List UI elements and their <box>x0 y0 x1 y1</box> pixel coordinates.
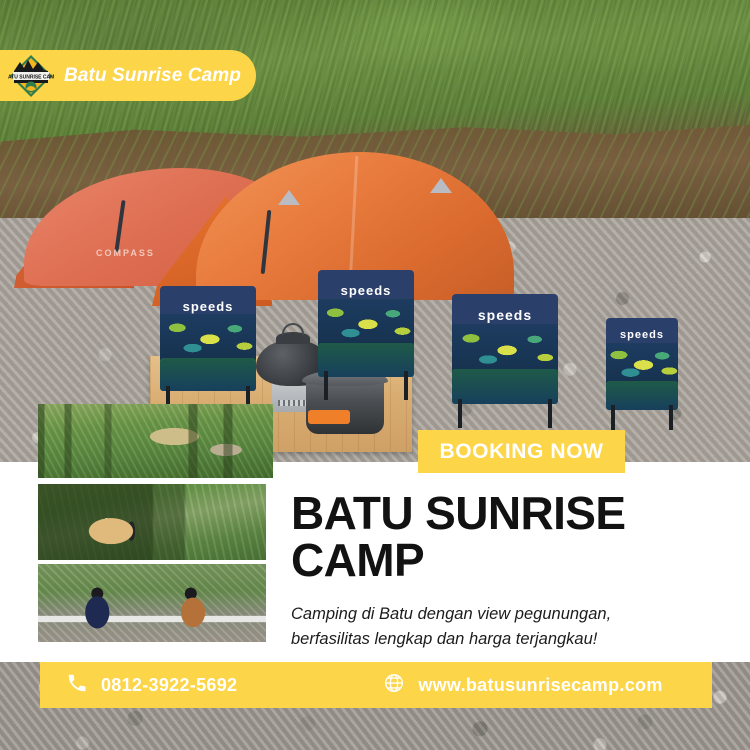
chair-leg <box>669 405 673 430</box>
chair-leg <box>548 399 552 428</box>
website-url: www.batusunrisecamp.com <box>418 675 662 696</box>
chair-backrest <box>160 286 256 360</box>
chair-brand-label: speeds <box>606 329 678 341</box>
globe-icon <box>383 672 405 699</box>
tent-brand-text: COMPASS <box>96 248 155 258</box>
thumbnail-image <box>38 484 266 560</box>
chair-seat <box>452 369 558 404</box>
chair-backrest <box>318 270 414 345</box>
camp-chair-4: speeds <box>606 318 678 430</box>
thumbnail-image <box>38 404 273 478</box>
phone-number: 0812-3922-5692 <box>101 675 237 696</box>
booking-now-button[interactable]: BOOKING NOW <box>418 430 625 473</box>
chair-seat <box>318 343 414 377</box>
brand-name-text: Batu Sunrise Camp <box>64 65 241 87</box>
chair-leg <box>324 371 328 400</box>
promo-poster: COMPASS speeds speeds speeds <box>0 0 750 750</box>
tagline-line-2: berfasilitas lengkap dan harga terjangka… <box>291 627 691 652</box>
chair-leg <box>404 371 408 400</box>
booking-now-label: BOOKING NOW <box>439 440 603 464</box>
contact-bar: 0812-3922-5692 www.batusunrisecamp.com <box>40 662 712 708</box>
thumbnail-valley-view[interactable] <box>38 404 273 478</box>
svg-text:BATU SUNRISE CAMP: BATU SUNRISE CAMP <box>8 74 54 80</box>
camp-chair-3: speeds <box>452 294 558 428</box>
chair-backrest <box>452 294 558 372</box>
chair-backrest <box>606 318 678 383</box>
tagline: Camping di Batu dengan view pegunungan, … <box>291 602 691 652</box>
phone-icon <box>66 672 88 699</box>
camp-chair-1: speeds <box>160 286 256 414</box>
page-title-line-2: CAMP <box>291 537 691 584</box>
pot-handle <box>308 410 350 424</box>
thumbnail-image <box>38 564 266 642</box>
chair-brand-label: speeds <box>452 307 558 323</box>
title-block: BATU SUNRISE CAMP Camping di Batu dengan… <box>291 490 691 652</box>
thumbnail-table-view[interactable] <box>38 564 266 642</box>
chair-leg <box>458 399 462 428</box>
phone-contact[interactable]: 0812-3922-5692 <box>66 672 237 699</box>
brand-header[interactable]: BATU SUNRISE CAMP Batu Sunrise Camp <box>0 50 256 101</box>
chair-leg <box>611 405 615 430</box>
page-title-line-1: BATU SUNRISE <box>291 490 691 537</box>
mountain-camp-badge-icon: BATU SUNRISE CAMP <box>8 53 54 99</box>
website-contact[interactable]: www.batusunrisecamp.com <box>383 672 662 699</box>
camp-chair-2: speeds <box>318 270 414 400</box>
tagline-line-1: Camping di Batu dengan view pegunungan, <box>291 602 691 627</box>
chair-seat <box>160 358 256 391</box>
chair-brand-label: speeds <box>160 299 256 314</box>
chair-seat <box>606 381 678 410</box>
chair-brand-label: speeds <box>318 283 414 298</box>
thumbnail-tent-slope[interactable] <box>38 484 266 560</box>
